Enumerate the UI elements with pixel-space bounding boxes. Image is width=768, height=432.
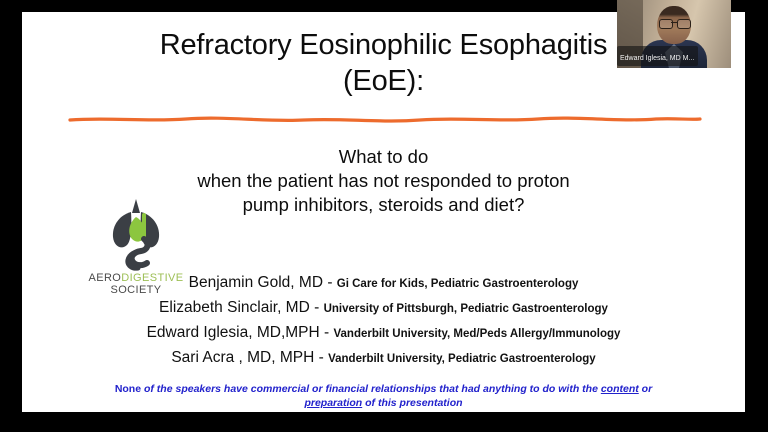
speaker-affiliation: Gi Care for Kids, Pediatric Gastroentero… [337, 278, 579, 290]
slide-subtitle-line-1: What to do [22, 145, 745, 169]
slide-subtitle-line-2: when the patient has not responded to pr… [22, 169, 745, 193]
participant-name-label: Edward Iglesia, MD M... [620, 55, 694, 62]
speaker-name: Edward Iglesia, MD,MPH [147, 324, 320, 341]
disclosure-line-2: preparation of this presentation [72, 396, 695, 410]
disclosure-lead: None [115, 383, 141, 395]
speaker-row: Benjamin Gold, MD - Gi Care for Kids, Pe… [22, 270, 745, 295]
disclosure-mid: of the speakers have commercial or finan… [141, 383, 601, 395]
slide-title-line-2: (EoE): [22, 63, 745, 99]
speaker-list: Benjamin Gold, MD - Gi Care for Kids, Pe… [22, 270, 745, 370]
lungs-digestive-icon [102, 197, 170, 271]
glasses-lens-left [659, 19, 673, 29]
speaker-row: Sari Acra , MD, MPH - Vanderbilt Univers… [22, 345, 745, 370]
lungs-icon [102, 197, 170, 271]
disclosure-statement: None of the speakers have commercial or … [72, 382, 695, 410]
disclosure-line-1: None of the speakers have commercial or … [72, 382, 695, 396]
glasses-icon [659, 19, 689, 27]
speaker-dash: - [323, 274, 337, 291]
disclosure-underline-preparation: preparation [304, 397, 362, 409]
glasses-lens-right [677, 19, 691, 29]
speaker-row: Elizabeth Sinclair, MD - University of P… [22, 295, 745, 320]
disclosure-tail: or [639, 383, 652, 395]
video-call-stage: Refractory Eosinophilic Esophagitis (EoE… [0, 0, 768, 432]
speaker-row: Edward Iglesia, MD,MPH - Vanderbilt Univ… [22, 320, 745, 345]
speaker-affiliation: Vanderbilt University, Med/Peds Allergy/… [333, 328, 620, 340]
speaker-dash: - [314, 349, 328, 366]
speaker-affiliation: University of Pittsburgh, Pediatric Gast… [324, 303, 608, 315]
orange-wavy-divider [68, 112, 702, 126]
speaker-name: Sari Acra , MD, MPH [171, 349, 314, 366]
speaker-name: Benjamin Gold, MD [189, 274, 323, 291]
speaker-name: Elizabeth Sinclair, MD [159, 299, 310, 316]
speaker-dash: - [320, 324, 334, 341]
disclosure-tail-2: of this presentation [362, 397, 462, 409]
divider-icon [68, 112, 702, 126]
participant-name-badge: Edward Iglesia, MD M... [617, 46, 698, 66]
disclosure-underline-content: content [601, 383, 639, 395]
video-participant-tile[interactable]: Edward Iglesia, MD M... [617, 0, 731, 68]
speaker-dash: - [310, 299, 324, 316]
presentation-slide: Refractory Eosinophilic Esophagitis (EoE… [22, 12, 745, 412]
speaker-affiliation: Vanderbilt University, Pediatric Gastroe… [328, 353, 596, 365]
